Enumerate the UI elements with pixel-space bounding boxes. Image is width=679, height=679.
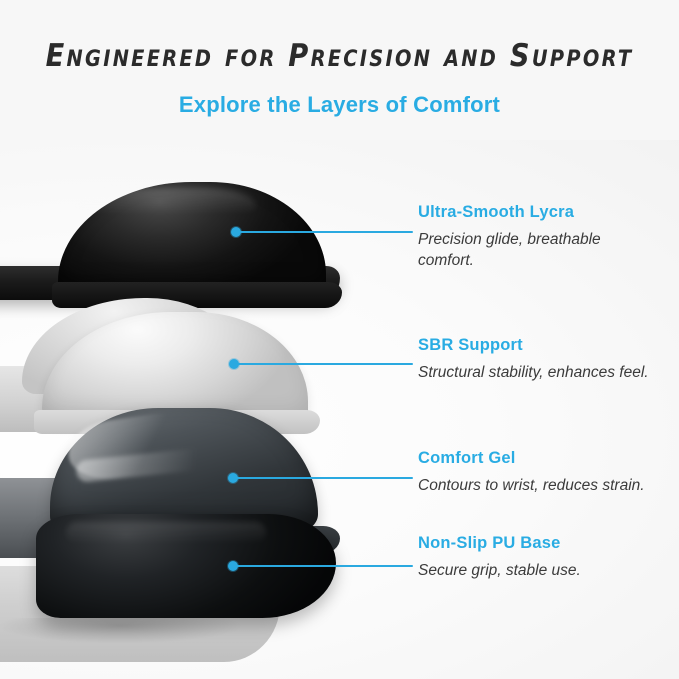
callout-desc-pu: Secure grip, stable use. bbox=[418, 560, 654, 581]
callout-title-gel: Comfort Gel bbox=[418, 449, 654, 468]
product-layers-infographic: Engineered for Precision and Support Exp… bbox=[0, 0, 679, 679]
callout-pu: Non-Slip PU Base Secure grip, stable use… bbox=[418, 534, 654, 581]
callout-desc-sbr: Structural stability, enhances feel. bbox=[418, 362, 654, 383]
leader-rule-lycra bbox=[239, 231, 413, 233]
callout-desc-gel: Contours to wrist, reduces strain. bbox=[418, 475, 654, 496]
callout-title-pu: Non-Slip PU Base bbox=[418, 534, 654, 553]
leader-rule-sbr bbox=[237, 363, 413, 365]
callout-lycra: Ultra-Smooth Lycra Precision glide, brea… bbox=[418, 203, 654, 271]
leader-rule-gel bbox=[236, 477, 413, 479]
leader-line-pu bbox=[228, 560, 413, 572]
leader-rule-pu bbox=[236, 565, 413, 567]
callout-desc-lycra: Precision glide, breathable comfort. bbox=[418, 229, 654, 271]
page-subtitle: Explore the Layers of Comfort bbox=[0, 92, 679, 118]
product-layer-pu-base bbox=[0, 514, 410, 674]
callout-sbr: SBR Support Structural stability, enhanc… bbox=[418, 336, 654, 383]
leader-line-gel bbox=[228, 472, 413, 484]
callout-title-sbr: SBR Support bbox=[418, 336, 654, 355]
callout-title-lycra: Ultra-Smooth Lycra bbox=[418, 203, 654, 222]
callout-gel: Comfort Gel Contours to wrist, reduces s… bbox=[418, 449, 654, 496]
leader-line-sbr bbox=[229, 358, 413, 370]
pu-drop-shadow bbox=[0, 618, 290, 658]
page-title: Engineered for Precision and Support bbox=[41, 38, 639, 74]
lycra-dome-shape bbox=[58, 182, 326, 294]
leader-line-lycra bbox=[231, 226, 413, 238]
